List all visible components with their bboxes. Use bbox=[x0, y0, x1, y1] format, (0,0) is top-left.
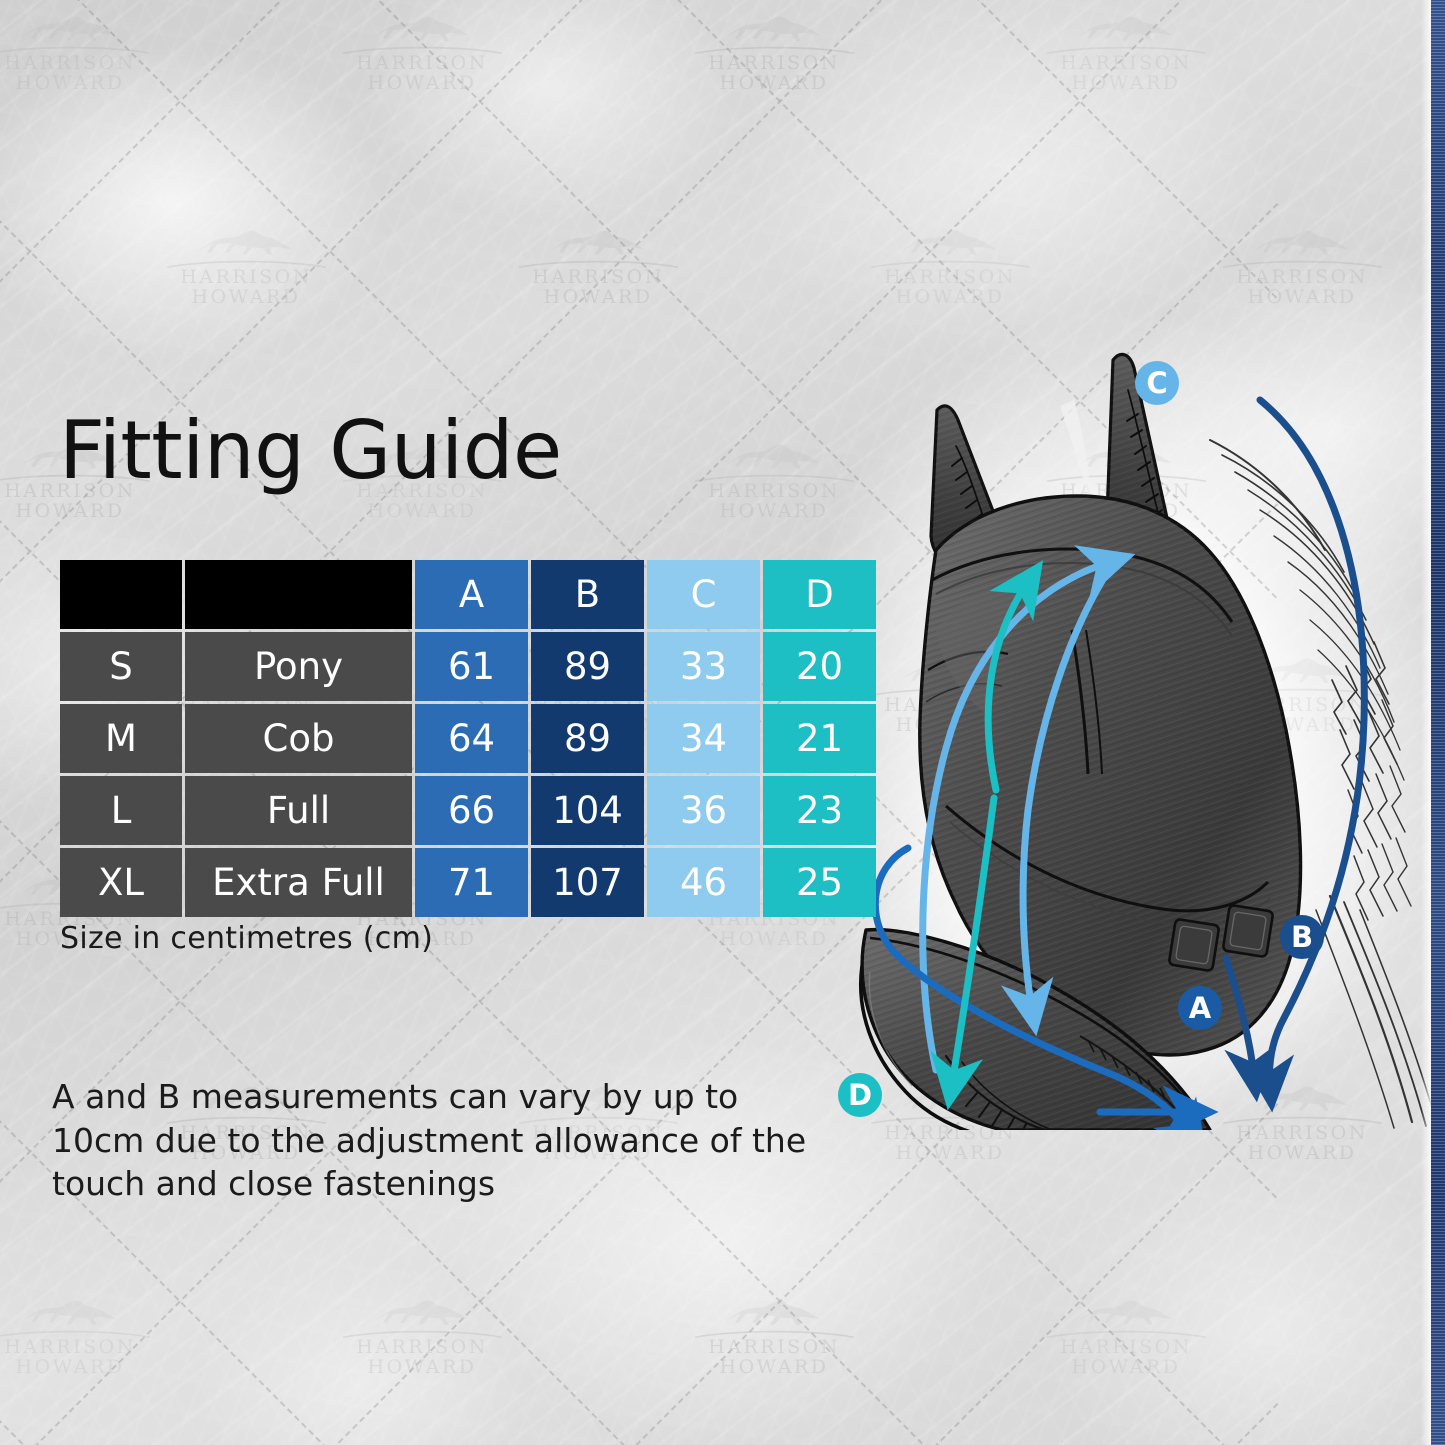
cell-d: 23 bbox=[763, 776, 876, 845]
table-header-row: A B C D bbox=[60, 560, 876, 629]
measurement-note: A and B measurements can vary by up to 1… bbox=[52, 1075, 822, 1206]
marker-a: A bbox=[1178, 986, 1222, 1030]
cell-d: 20 bbox=[763, 632, 876, 701]
cell-c: 34 bbox=[647, 704, 760, 773]
table-row: S Pony 61 89 33 20 bbox=[60, 632, 876, 701]
edge-strip-fade bbox=[1421, 0, 1431, 1445]
cell-name: Pony bbox=[185, 632, 412, 701]
marker-c: C bbox=[1135, 361, 1179, 405]
cell-name: Extra Full bbox=[185, 848, 412, 917]
cell-a: 66 bbox=[415, 776, 528, 845]
header-blank-name bbox=[185, 560, 412, 629]
cell-a: 64 bbox=[415, 704, 528, 773]
size-chart-header: A B C D bbox=[60, 560, 876, 629]
cell-c: 46 bbox=[647, 848, 760, 917]
header-col-b: B bbox=[531, 560, 644, 629]
table-row: M Cob 64 89 34 21 bbox=[60, 704, 876, 773]
units-caption: Size in centimetres (cm) bbox=[60, 921, 433, 956]
cell-d: 21 bbox=[763, 704, 876, 773]
cell-c: 33 bbox=[647, 632, 760, 701]
cell-b: 104 bbox=[531, 776, 644, 845]
cell-name: Full bbox=[185, 776, 412, 845]
page-title: Fitting Guide bbox=[59, 404, 562, 497]
fitting-guide-page: HARRISONHOWARDHARRISONHOWARDHARRISONHOWA… bbox=[0, 0, 1445, 1445]
header-col-c: C bbox=[647, 560, 760, 629]
cell-b: 89 bbox=[531, 632, 644, 701]
cell-d: 25 bbox=[763, 848, 876, 917]
table-row: L Full 66 104 36 23 bbox=[60, 776, 876, 845]
header-col-d: D bbox=[763, 560, 876, 629]
cell-size: L bbox=[60, 776, 182, 845]
size-chart-table: A B C D S Pony 61 89 33 20 M Cob 64 89 3… bbox=[57, 557, 879, 920]
marker-b: B bbox=[1280, 915, 1324, 959]
cell-name: Cob bbox=[185, 704, 412, 773]
table-row: XL Extra Full 71 107 46 25 bbox=[60, 848, 876, 917]
cell-a: 61 bbox=[415, 632, 528, 701]
cell-size: XL bbox=[60, 848, 182, 917]
cell-b: 89 bbox=[531, 704, 644, 773]
header-blank-size bbox=[60, 560, 182, 629]
header-col-a: A bbox=[415, 560, 528, 629]
edge-strip-blue bbox=[1431, 0, 1445, 1445]
cell-c: 36 bbox=[647, 776, 760, 845]
marker-d: D bbox=[838, 1073, 882, 1117]
cell-a: 71 bbox=[415, 848, 528, 917]
cell-b: 107 bbox=[531, 848, 644, 917]
cell-size: S bbox=[60, 632, 182, 701]
size-chart-body: S Pony 61 89 33 20 M Cob 64 89 34 21 L F… bbox=[60, 632, 876, 917]
cell-size: M bbox=[60, 704, 182, 773]
